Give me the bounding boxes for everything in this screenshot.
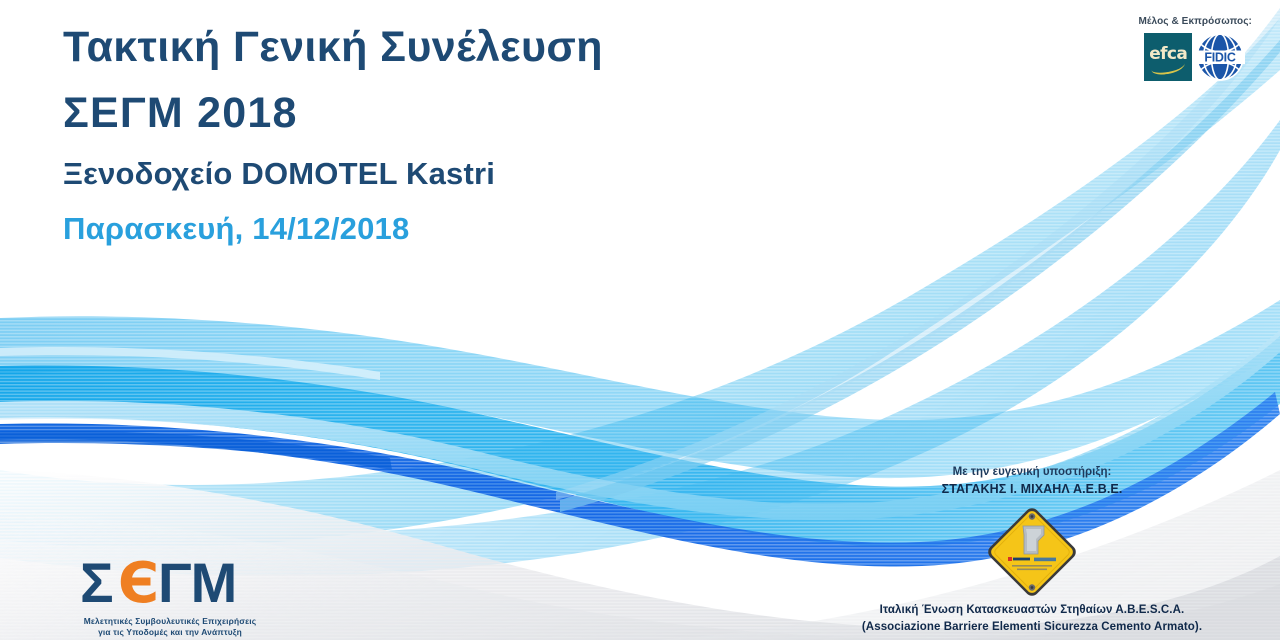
segm-tagline-line-1: Μελετητικές Συμβουλευτικές Επιχειρήσεις: [55, 616, 285, 627]
svg-text:FIDIC: FIDIC: [1205, 50, 1236, 64]
segm-letters-gamma-mu: ΓΜ: [158, 556, 236, 614]
segm-wordmark: Σ Є ΓΜ: [55, 556, 285, 614]
membership-block: Μέλος & Εκπρόσωπος: efca: [1139, 16, 1253, 83]
venue-label: Ξενοδοχείο DOMOTEL Kastri: [63, 146, 603, 202]
membership-caption: Μέλος & Εκπρόσωπος:: [1139, 16, 1253, 27]
segm-wordmark-icon: Σ Є ΓΜ: [80, 556, 260, 614]
abesca-line-2: (Associazione Barriere Elementi Sicurezz…: [802, 619, 1262, 636]
segm-letter-epsilon: Є: [118, 556, 159, 614]
sponsor-block: Με την ευγενική υποστήριξη: ΣΤΑΓΑΚΗΣ Ι. …: [802, 464, 1262, 636]
fidic-logo: FIDIC: [1194, 31, 1246, 83]
efca-logo: efca: [1144, 33, 1192, 81]
date-label: Παρασκευή, 14/12/2018: [63, 202, 603, 256]
fidic-globe-icon: FIDIC: [1194, 31, 1246, 83]
presentation-slide: Τακτική Γενική Συνέλευση ΣΕΓΜ 2018 Ξενοδ…: [0, 0, 1280, 640]
segm-letter-sigma: Σ: [80, 556, 113, 614]
segm-tagline-line-2: για τις Υποδομές και την Ανάπτυξη: [55, 627, 285, 638]
efca-swoosh-icon: [1150, 57, 1186, 76]
abesca-road-sign-icon: [982, 502, 1082, 602]
abesca-line-1: Ιταλική Ένωση Κατασκευαστών Στηθαίων Α.Β…: [802, 602, 1262, 619]
sponsor-name: ΣΤΑΓΑΚΗΣ Ι. ΜΙΧΑΗΛ Α.Ε.Β.Ε.: [802, 480, 1262, 498]
page-title-line-2: ΣΕΓΜ 2018: [63, 80, 603, 146]
sponsor-logo-wrapper: [802, 502, 1262, 600]
segm-logo-block: Σ Є ΓΜ Μελετητικές Συμβουλευτικές Επιχει…: [55, 556, 285, 638]
page-title-line-1: Τακτική Γενική Συνέλευση: [63, 14, 603, 80]
membership-logo-row: efca FIDIC: [1139, 31, 1253, 83]
title-block: Τακτική Γενική Συνέλευση ΣΕΓΜ 2018 Ξενοδ…: [63, 14, 603, 256]
sponsor-caption: Με την ευγενική υποστήριξη:: [802, 464, 1262, 480]
